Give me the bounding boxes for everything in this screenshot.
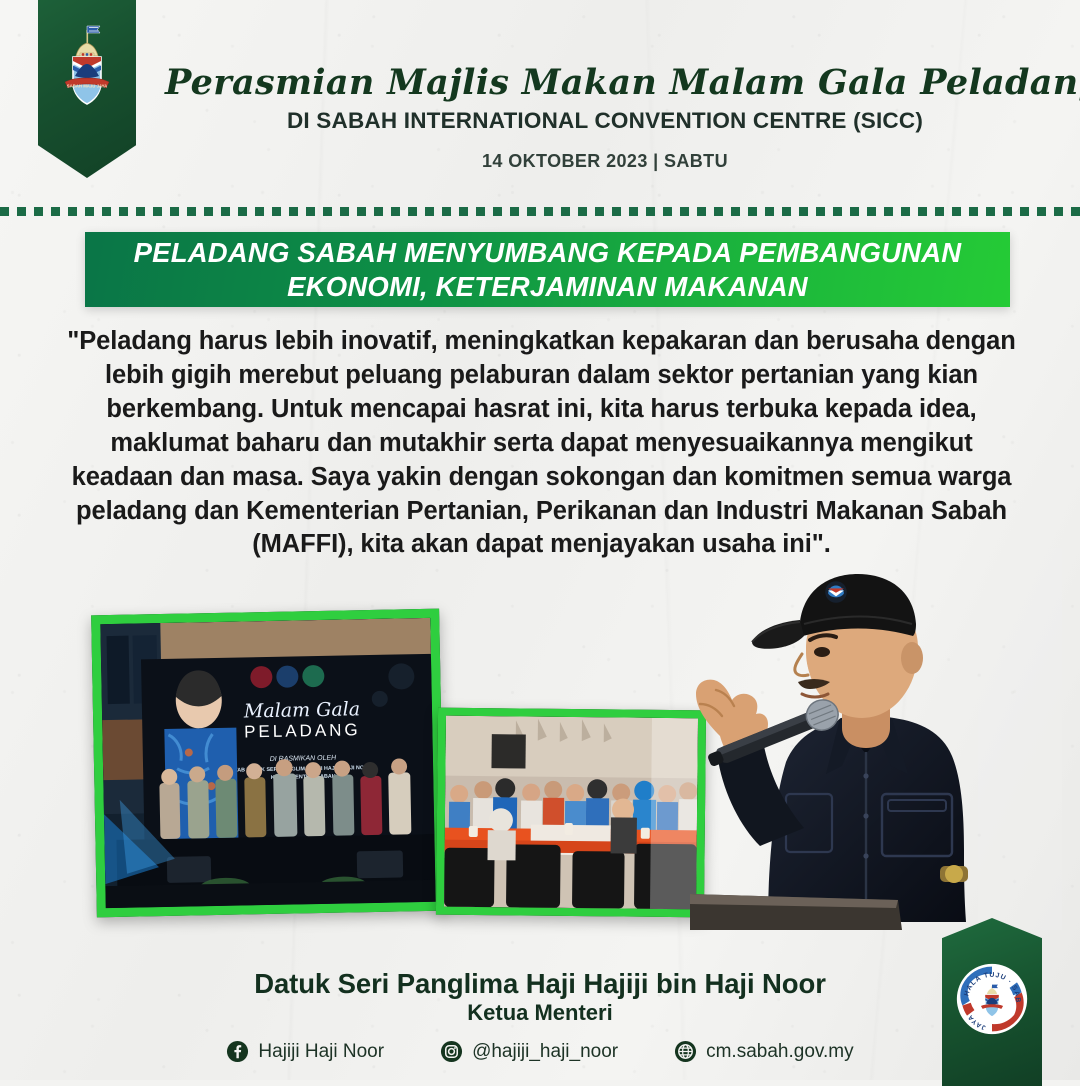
event-venue: DI SABAH INTERNATIONAL CONVENTION CENTRE… bbox=[165, 108, 1045, 134]
social-website[interactable]: cm.sabah.gov.my bbox=[674, 1040, 853, 1063]
instagram-icon bbox=[440, 1040, 463, 1063]
svg-text:SABAH MAJU JAYA: SABAH MAJU JAYA bbox=[67, 84, 108, 89]
facebook-icon bbox=[226, 1040, 249, 1063]
social-instagram[interactable]: @hajiji_haji_noor bbox=[440, 1040, 618, 1063]
social-instagram-label: @hajiji_haji_noor bbox=[472, 1041, 618, 1063]
svg-text:Malam Gala: Malam Gala bbox=[243, 698, 361, 722]
dotted-divider bbox=[0, 207, 1080, 216]
headline-banner: PELADANG SABAH MENYUMBANG KEPADA PEMBANG… bbox=[85, 232, 1010, 307]
globe-icon bbox=[674, 1040, 697, 1063]
event-date: 14 OKTOBER 2023 | SABTU bbox=[165, 151, 1045, 172]
photo-stage-group-image: Malam Gala PELADANG DI RASMIKAN OLEH YAB… bbox=[100, 618, 435, 908]
speaker-role: Ketua Menteri bbox=[0, 1000, 1080, 1026]
social-facebook-label: Hajiji Haji Noor bbox=[258, 1041, 384, 1063]
header-text-block: Perasmian Majlis Makan Malam Gala Pelada… bbox=[165, 62, 1045, 172]
photo-chief-minister-speaking bbox=[690, 548, 1062, 930]
sabah-coat-of-arms-icon: SABAH MAJU JAYA bbox=[56, 20, 118, 116]
photo-banquet-audience bbox=[436, 708, 706, 918]
photo-stage-group: Malam Gala PELADANG DI RASMIKAN OLEH YAB… bbox=[91, 609, 445, 918]
quote-text: "Peladang harus lebih inovatif, meningka… bbox=[64, 325, 1019, 562]
header-crest-ribbon: SABAH MAJU JAYA bbox=[38, 0, 136, 178]
event-title: Perasmian Majlis Makan Malam Gala Pelada… bbox=[165, 62, 1045, 103]
footer-logo-ribbon: HALA TUJU · SABAH MAJU JAYA bbox=[942, 918, 1042, 1086]
social-website-label: cm.sabah.gov.my bbox=[706, 1041, 853, 1063]
headline-text: PELADANG SABAH MENYUMBANG KEPADA PEMBANG… bbox=[85, 236, 1010, 303]
social-links: Hajiji Haji Noor @hajiji_haji_noor cm.sa… bbox=[0, 1040, 1080, 1063]
hala-tuju-sabah-maju-jaya-logo-icon: HALA TUJU · SABAH MAJU JAYA bbox=[955, 962, 1029, 1036]
svg-text:PELADANG: PELADANG bbox=[244, 720, 361, 741]
photo-chief-minister-speaking-image bbox=[690, 548, 1062, 930]
social-facebook[interactable]: Hajiji Haji Noor bbox=[226, 1040, 384, 1063]
photo-banquet-audience-image bbox=[444, 716, 698, 910]
speaker-name: Datuk Seri Panglima Haji Hajiji bin Haji… bbox=[0, 968, 1080, 1000]
